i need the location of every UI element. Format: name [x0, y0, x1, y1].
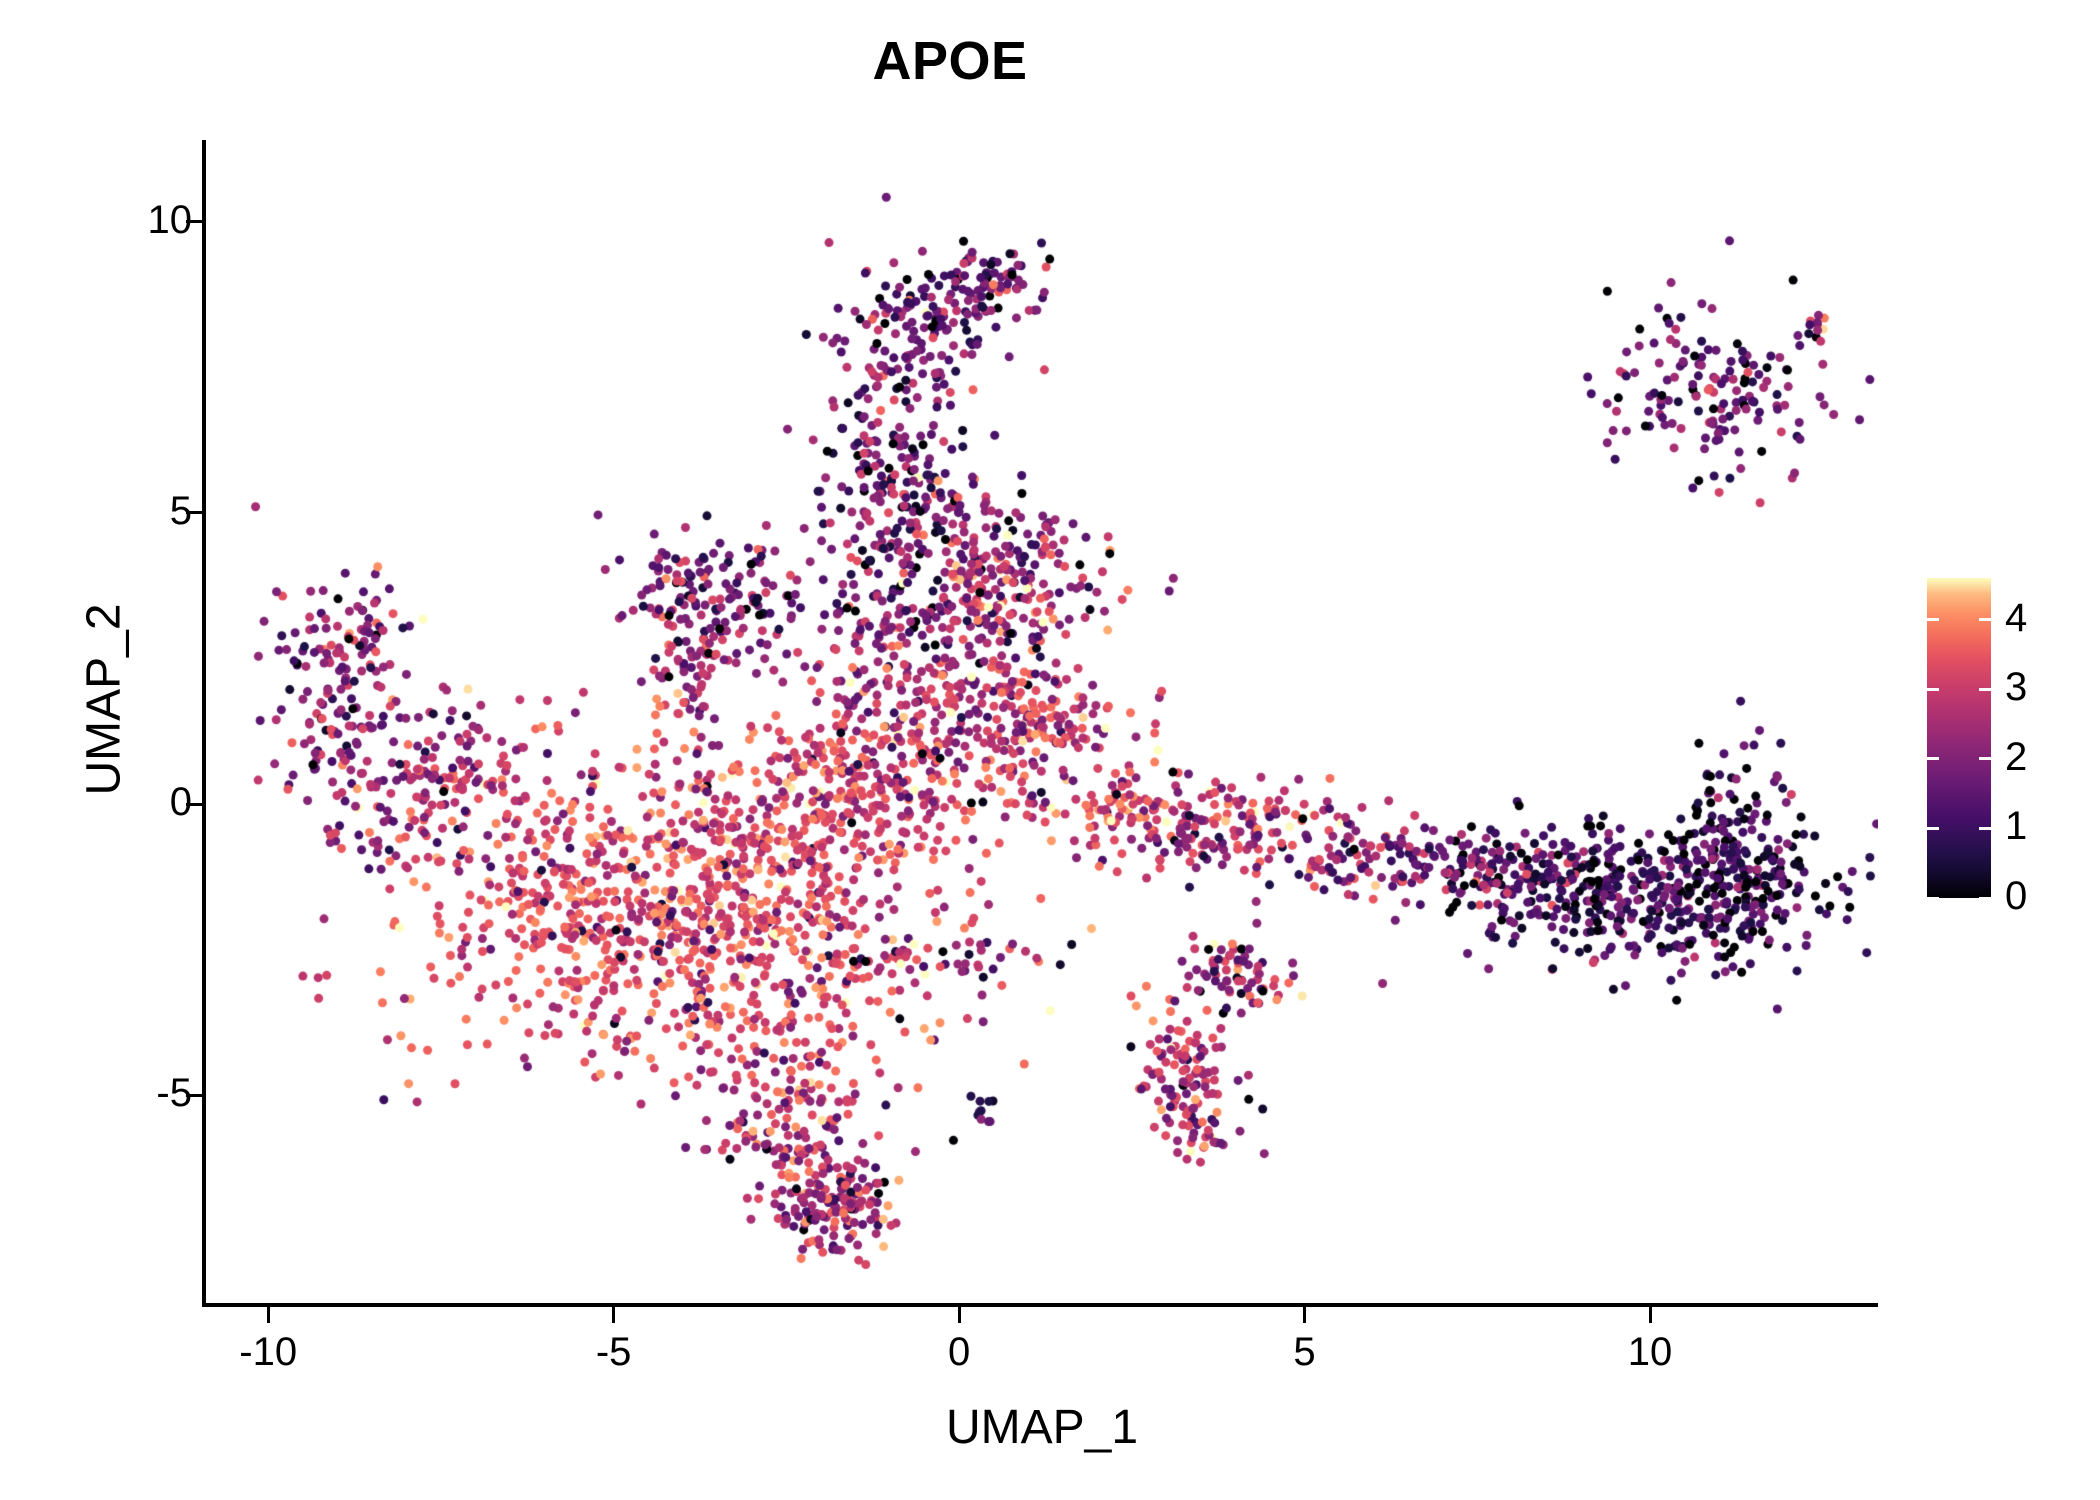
scatter-canvas: [206, 140, 1878, 1305]
colorbar-tick-mark: [1927, 827, 1939, 830]
plot-panel: [206, 140, 1878, 1305]
colorbar-tick-mark: [1979, 897, 1991, 900]
colorbar-gradient: [1927, 578, 1991, 898]
x-tick-mark: [1303, 1307, 1306, 1323]
x-tick-label: 0: [879, 1332, 1039, 1372]
x-axis-line: [202, 1303, 1878, 1307]
y-axis-title: UMAP_2: [77, 400, 132, 1000]
x-tick-mark: [958, 1307, 961, 1323]
x-tick-mark: [267, 1307, 270, 1323]
colorbar-tick-mark: [1927, 897, 1939, 900]
x-tick-label: 10: [1570, 1332, 1730, 1372]
colorbar-tick-mark: [1979, 757, 1991, 760]
colorbar-tick-mark: [1927, 618, 1939, 621]
y-axis-line: [202, 140, 206, 1305]
y-tick-label: 10: [72, 200, 192, 240]
colorbar-tick-mark: [1979, 827, 1991, 830]
x-tick-label: -10: [188, 1332, 348, 1372]
x-tick-mark: [612, 1307, 615, 1323]
x-axis-title: UMAP_1: [206, 1400, 1878, 1455]
x-tick-mark: [1649, 1307, 1652, 1323]
y-tick-label: -5: [72, 1073, 192, 1113]
umap-feature-plot: APOE -10-505101050-5 UMAP_1 UMAP_2 43210: [0, 0, 2100, 1500]
colorbar-tick-mark: [1979, 688, 1991, 691]
color-legend: 43210: [1927, 578, 2077, 908]
colorbar-tick-label: 3: [2005, 667, 2065, 707]
colorbar-tick-label: 0: [2005, 876, 2065, 916]
colorbar-tick-mark: [1927, 757, 1939, 760]
x-tick-label: 5: [1225, 1332, 1385, 1372]
colorbar-tick-mark: [1927, 688, 1939, 691]
colorbar-tick-label: 1: [2005, 806, 2065, 846]
colorbar-tick-mark: [1979, 618, 1991, 621]
colorbar-tick-label: 4: [2005, 598, 2065, 638]
page-title: APOE: [0, 30, 1900, 92]
colorbar-tick-label: 2: [2005, 737, 2065, 777]
x-tick-label: -5: [534, 1332, 694, 1372]
